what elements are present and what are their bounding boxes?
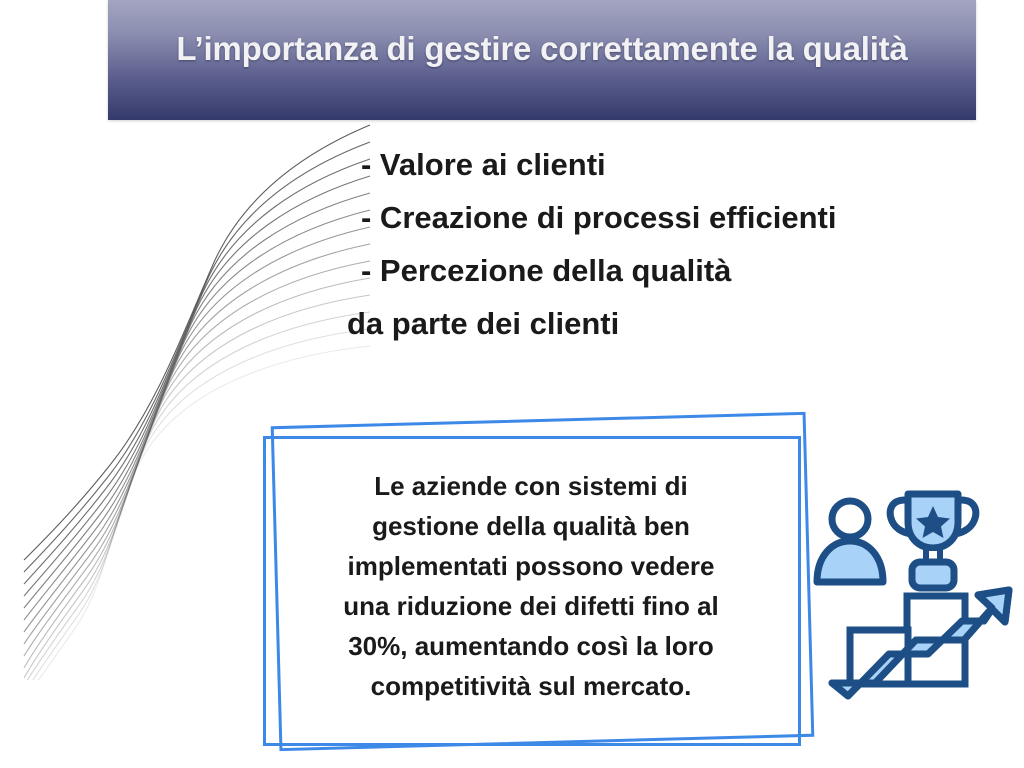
bullet-item: - Valore ai clienti	[361, 138, 975, 191]
bullet-item: - Percezione della qualità	[361, 244, 975, 297]
bullet-item: - Creazione di processi efficienti	[361, 191, 975, 244]
callout-line: implementati possono vedere	[281, 546, 781, 586]
callout-line: 30%, aumentando così la loro	[281, 626, 781, 666]
achievement-podium-icon	[812, 478, 1018, 700]
title-bar: L’importanza di gestire correttamente la…	[108, 0, 976, 120]
person-icon	[817, 501, 883, 582]
callout-line: competitività sul mercato.	[281, 666, 781, 706]
callout-line: una riduzione dei difetti fino al	[281, 586, 781, 626]
bullet-list: - Valore ai clienti - Creazione di proce…	[355, 138, 975, 350]
bullet-item-continuation: da parte dei clienti	[347, 297, 975, 350]
callout-line: gestione della qualità ben	[281, 506, 781, 546]
trophy-icon	[890, 494, 976, 588]
callout-line: Le aziende con sistemi di	[281, 466, 781, 506]
callout-text: Le aziende con sistemi di gestione della…	[281, 466, 781, 706]
slide-canvas: L’importanza di gestire correttamente la…	[0, 0, 1024, 768]
callout-box: Le aziende con sistemi di gestione della…	[255, 410, 815, 762]
page-title: L’importanza di gestire correttamente la…	[108, 30, 976, 68]
